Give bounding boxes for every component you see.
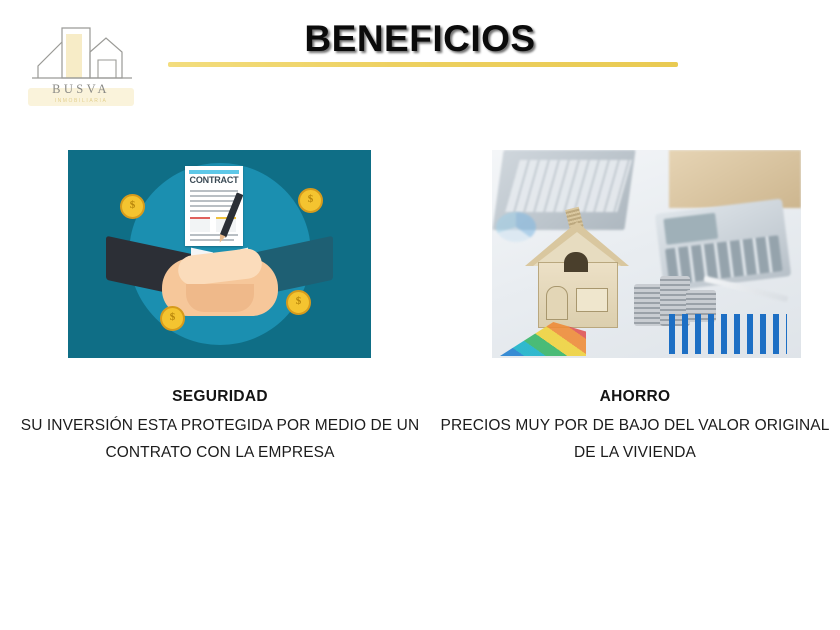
area-chart-graphic — [500, 322, 586, 356]
caption-ahorro: AHORRO PRECIOS MUY POR DE BAJO DEL VALOR… — [440, 388, 830, 466]
house-model-coins-photo — [492, 150, 801, 358]
caption-heading: AHORRO — [440, 388, 830, 406]
benefit-panel-seguridad: CONTRACT $ $ $ $ — [68, 150, 371, 358]
slide-header: BUSVA INMOBILIARIA BENEFICIOS — [0, 0, 840, 130]
laptop-keyboard — [505, 160, 632, 212]
house-attic-window — [564, 252, 588, 272]
caption-seguridad: SEGURIDAD SU INVERSIÓN ESTA PROTEGIDA PO… — [18, 388, 422, 466]
title-underline-rule — [168, 62, 678, 67]
handshake-fingers — [186, 284, 254, 312]
house-window — [576, 288, 608, 312]
dollar-coin-icon: $ — [298, 188, 323, 213]
logo-tagline: INMOBILIARIA — [22, 98, 140, 104]
caption-heading: SEGURIDAD — [18, 388, 422, 406]
dollar-coin-icon: $ — [120, 194, 145, 219]
page-title: BENEFICIOS — [0, 18, 840, 60]
caption-body: PRECIOS MUY POR DE BAJO DEL VALOR ORIGIN… — [440, 412, 830, 466]
chart-documents — [492, 310, 801, 358]
logo-wordmark: BUSVA — [22, 82, 140, 97]
calculator-screen — [663, 213, 718, 245]
handshake-contract-illustration: CONTRACT $ $ $ $ — [68, 150, 371, 358]
contract-label: CONTRACT — [185, 175, 243, 185]
bar-chart-graphic — [669, 314, 787, 354]
dollar-coin-icon: $ — [160, 306, 185, 331]
dollar-coin-icon: $ — [286, 290, 311, 315]
document-header-bar — [189, 170, 239, 174]
caption-body: SU INVERSIÓN ESTA PROTEGIDA POR MEDIO DE… — [18, 412, 422, 466]
wooden-house-model — [528, 208, 626, 326]
benefit-panel-ahorro — [492, 150, 801, 358]
